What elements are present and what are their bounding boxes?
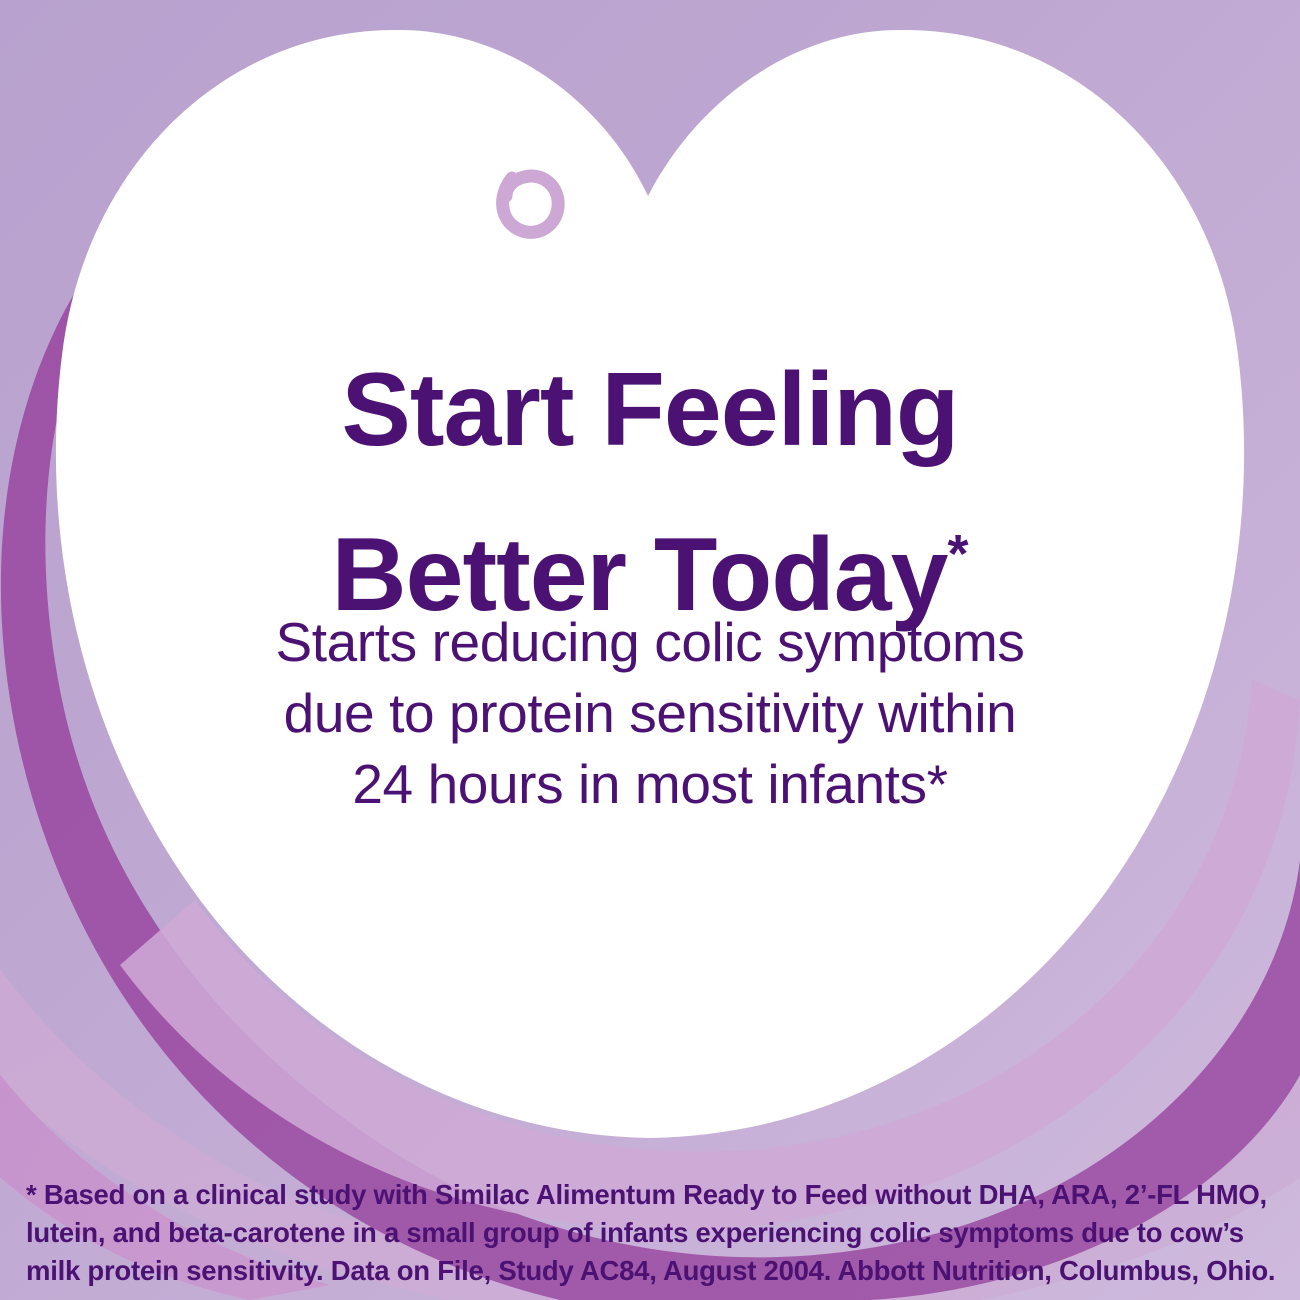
page-title: Start Feeling Better Today* [0, 338, 1300, 647]
poster-canvas: Start Feeling Better Today* Starts reduc… [0, 0, 1300, 1300]
subheadline: Starts reducing colic symptoms due to pr… [0, 607, 1300, 820]
subhead-line-1: Starts reducing colic symptoms [0, 607, 1300, 678]
subhead-line-3: 24 hours in most infants* [0, 749, 1300, 820]
headline-line-1: Start Feeling [0, 338, 1300, 482]
footnote-disclaimer: * Based on a clinical study with Similac… [26, 1176, 1278, 1290]
content-layer: Start Feeling Better Today* Starts reduc… [0, 0, 1300, 1300]
headline-asterisk: * [947, 524, 968, 584]
subhead-line-2: due to protein sensitivity within [0, 678, 1300, 749]
